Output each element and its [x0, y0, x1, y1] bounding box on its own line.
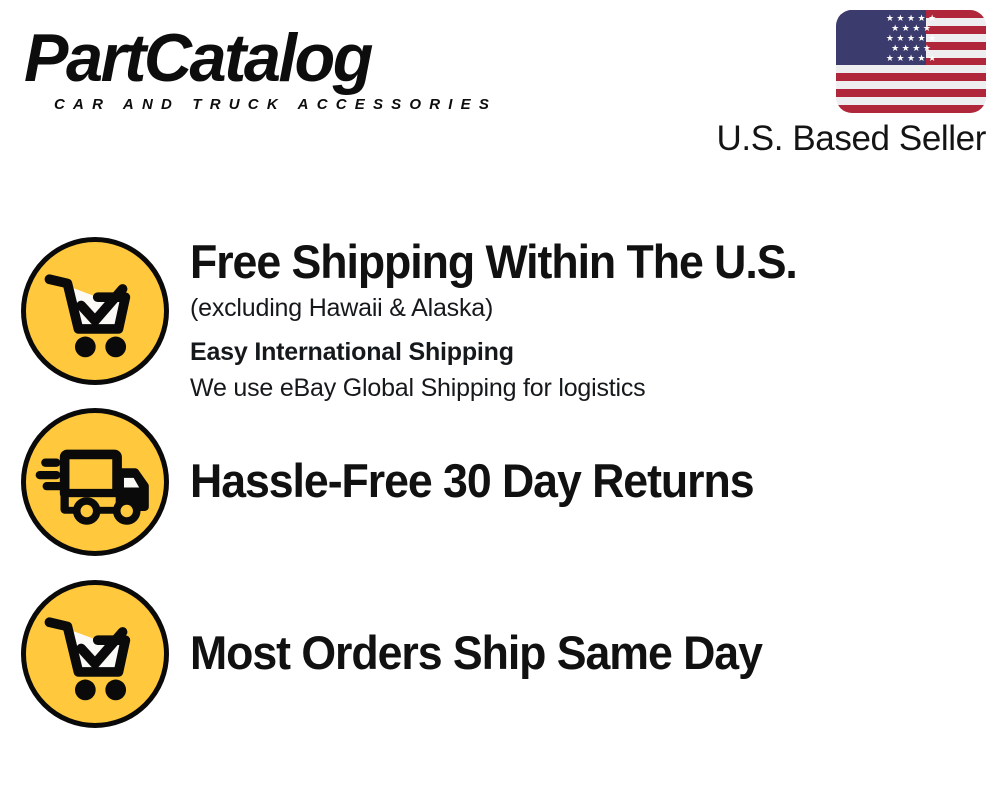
feature-row: Free Shipping Within The U.S. (excluding…	[0, 230, 1000, 406]
feature-subnote: (excluding Hawaii & Alaska)	[190, 290, 980, 326]
brand-logo: PartCatalog CAR AND TRUCK ACCESSORIES	[24, 22, 494, 117]
feature-headline: Free Shipping Within The U.S.	[190, 234, 941, 290]
feature-row: Hassle-Free 30 Day Returns	[0, 406, 1000, 578]
feature-row: Most Orders Ship Same Day	[0, 578, 1000, 750]
feature-sub-strong: Easy International Shipping	[190, 334, 980, 370]
us-flag-icon: ★ ★ ★ ★ ★ ★ ★ ★ ★ ★ ★ ★ ★ ★ ★ ★ ★ ★ ★ ★ …	[836, 10, 986, 113]
feature-text: Most Orders Ship Same Day	[190, 578, 1000, 681]
feature-headline: Most Orders Ship Same Day	[190, 625, 941, 681]
feature-text: Free Shipping Within The U.S. (excluding…	[190, 230, 1000, 406]
seller-label: U.S. Based Seller	[716, 119, 986, 159]
feature-headline: Hassle-Free 30 Day Returns	[190, 453, 941, 509]
us-based-seller-badge: ★ ★ ★ ★ ★ ★ ★ ★ ★ ★ ★ ★ ★ ★ ★ ★ ★ ★ ★ ★ …	[716, 10, 986, 159]
brand-wordmark: PartCatalog	[24, 22, 485, 94]
shopping-cart-check-icon	[21, 237, 169, 385]
feature-icon-wrap	[0, 406, 190, 556]
feature-icon-wrap	[0, 578, 190, 728]
feature-sub-detail: We use eBay Global Shipping for logistic…	[190, 370, 980, 406]
brand-tagline: CAR AND TRUCK ACCESSORIES	[54, 96, 497, 113]
banner-header: PartCatalog CAR AND TRUCK ACCESSORIES ★ …	[0, 0, 1000, 175]
feature-text: Hassle-Free 30 Day Returns	[190, 406, 1000, 509]
feature-icon-wrap	[0, 230, 190, 385]
feature-list: Free Shipping Within The U.S. (excluding…	[0, 230, 1000, 750]
delivery-truck-icon	[21, 408, 169, 556]
promo-banner: PartCatalog CAR AND TRUCK ACCESSORIES ★ …	[0, 0, 1000, 800]
shopping-cart-check-icon	[21, 580, 169, 728]
